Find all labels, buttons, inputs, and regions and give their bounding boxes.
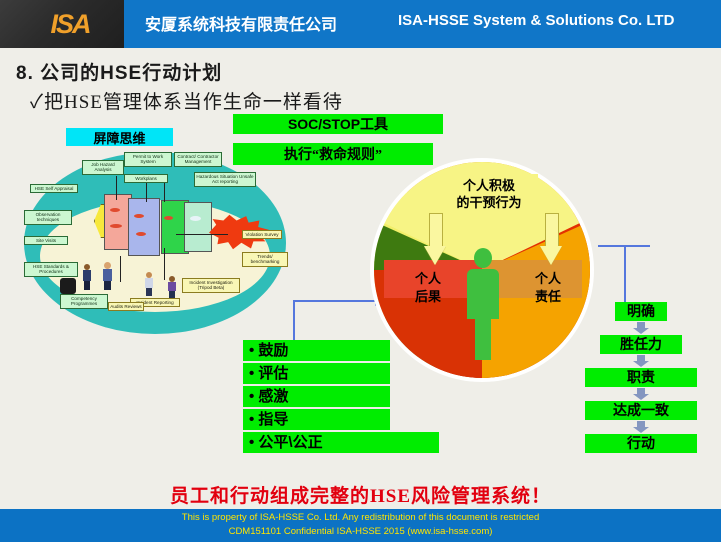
panel-hole-b	[110, 224, 122, 228]
slide-slogan: 员工和行动组成完整的HSE风险管理系统！	[0, 481, 721, 508]
bowtie-connector-5	[120, 256, 121, 282]
bowtie-label-workplans: Workplans	[124, 174, 168, 183]
barrier-bowtie-diagram: HSE Self Appraisal Observation technique…	[24, 152, 286, 334]
bowtie-label-hse-standards: HSE Standards & Procedures	[24, 262, 78, 277]
flow-arrow-down-icon	[633, 322, 649, 334]
bowtie-label-competency-programmes: Competency Programmes	[60, 294, 108, 309]
flow-step-action: 行动	[585, 434, 697, 453]
callout-barrier-thinking: 屏障思维	[66, 128, 173, 146]
bowtie-label-permit-to-work: Permit to Work System	[124, 152, 172, 167]
bowtie-label-site-visits: Site Visits	[24, 236, 68, 245]
figure-person-2	[102, 262, 113, 290]
bowtie-connector-3	[164, 182, 165, 202]
barrier-panel-2	[128, 198, 160, 256]
connector-flow-vertical	[624, 245, 626, 303]
panel-hole-c	[134, 214, 144, 218]
slide-canvas: ISA 安厦系统科技有限责任公司 ISA-HSSE System & Solut…	[0, 0, 721, 542]
figure-equipment	[60, 278, 76, 294]
figure-person-3	[144, 272, 154, 296]
list-item: • 鼓励	[243, 340, 390, 361]
person-figure-icon	[467, 248, 499, 358]
bowtie-label-incident-investigation: Incident Investigation (Tripod Beta)	[182, 278, 240, 293]
bowtie-label-violation-survey: Violation Survey	[242, 230, 282, 239]
slide-header: ISA 安厦系统科技有限责任公司 ISA-HSSE System & Solut…	[0, 0, 721, 48]
bowtie-connector-6	[176, 234, 228, 235]
page-title: 8. 公司的HSE行动计划	[16, 58, 222, 85]
figure-person-4	[167, 276, 177, 298]
action-bullet-list: • 鼓励 • 评估 • 感激 • 指导 • 公平\公正	[243, 340, 439, 455]
down-arrow-left-icon	[424, 213, 446, 265]
wheel-right-label: 个人 责任	[518, 270, 578, 306]
flow-step-clarity: 明确	[615, 302, 667, 321]
panel-hole-f	[190, 216, 201, 221]
bowtie-label-hazardous-situation: Hazardous Situation Unsafe Act reporting	[194, 172, 256, 187]
bowtie-label-hse-self-appraisal: HSE Self Appraisal	[30, 184, 78, 193]
wheel-left-label-line1: 个人	[398, 270, 458, 288]
flow-step-agreement: 达成一致	[585, 401, 697, 420]
callout-soc-stop: SOC/STOP工具	[233, 114, 443, 134]
header-company-name-en: ISA-HSSE System & Solutions Co. LTD	[398, 12, 674, 29]
page-subtitle: ✓把HSE管理体系当作生命一样看待	[30, 87, 343, 114]
wheel-top-label-line1: 个人积极	[444, 177, 534, 194]
figure-person-1	[82, 264, 92, 290]
bowtie-connector-4	[164, 248, 165, 280]
responsibility-flow-chart: 明确 胜任力 职责 达成一致 行动	[565, 302, 717, 453]
isa-logo: ISA	[28, 8, 112, 40]
flow-step-competency: 胜任力	[600, 335, 682, 354]
wheel-right-label-line1: 个人	[518, 270, 578, 288]
flow-arrow-down-icon	[633, 421, 649, 433]
bowtie-label-trends-benchmarking: Trends/ benchmarking	[242, 252, 288, 267]
list-item: • 指导	[243, 409, 390, 430]
connector-bullets-horizontal	[293, 300, 377, 302]
panel-hole-a	[110, 208, 120, 212]
header-company-name-cn: 安厦系统科技有限责任公司	[145, 11, 337, 35]
flow-step-duty: 职责	[585, 368, 697, 387]
barrier-panel-4	[184, 202, 212, 252]
list-item: • 公平\公正	[243, 432, 439, 453]
bowtie-label-audits-reviews: Audits Reviews	[108, 302, 144, 311]
flow-arrow-down-icon	[633, 355, 649, 367]
footer-line-1: This is property of ISA-HSSE Co. Ltd. An…	[0, 512, 721, 523]
list-item: • 评估	[243, 363, 390, 384]
footer-line-2: CDM151101 Confidential ISA-HSSE 2015 (ww…	[0, 526, 721, 537]
panel-hole-d	[136, 232, 146, 236]
bowtie-connector-1	[116, 176, 117, 200]
wheel-left-label: 个人 后果	[398, 270, 458, 306]
wheel-top-label: 个人积极 的干预行为	[440, 174, 538, 214]
bowtie-label-observation-techniques: Observation techniques	[24, 210, 72, 225]
bowtie-label-contractor-management: Contract/ Contractor Management	[174, 152, 222, 167]
down-arrow-right-icon	[540, 213, 562, 265]
flow-arrow-down-icon	[633, 388, 649, 400]
wheel-top-label-line2: 的干预行为	[444, 194, 534, 211]
list-item: • 感激	[243, 386, 390, 407]
wheel-left-label-line2: 后果	[398, 288, 458, 306]
bowtie-label-job-hazard-analysis: Job Hazard Analysis	[82, 160, 124, 175]
panel-hole-e	[164, 216, 173, 220]
